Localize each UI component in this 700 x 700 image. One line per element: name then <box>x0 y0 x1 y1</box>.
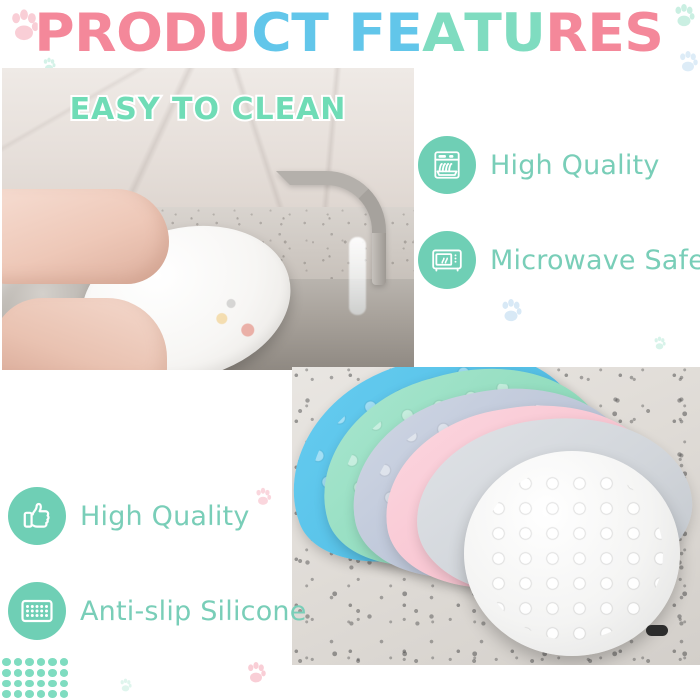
hand-upper <box>2 189 169 284</box>
feature-row-high-quality-thumbs[interactable]: High Quality <box>8 487 250 545</box>
title-letter: P <box>35 7 76 60</box>
title-letter: S <box>625 7 666 60</box>
title-letter: U <box>207 7 253 60</box>
title-letter: T <box>464 7 503 60</box>
paw-print-icon <box>253 487 273 507</box>
title-letter: F <box>348 7 387 60</box>
title-letter <box>329 7 349 60</box>
page-title-text: PRODUCT FEATURES <box>35 7 664 60</box>
title-letter: U <box>501 7 547 60</box>
feature-label: Microwave Safe <box>490 245 700 276</box>
feature-label: High Quality <box>490 150 660 181</box>
title-letter: A <box>422 7 466 60</box>
dot-grid-decoration <box>2 658 68 698</box>
paw-print-icon <box>498 298 524 324</box>
title-letter: R <box>74 7 117 60</box>
mat-tag <box>646 625 668 636</box>
paw-print-icon <box>244 661 268 685</box>
thumbs-up-icon <box>8 487 66 545</box>
photo-easy-to-clean: EASY TO CLEAN <box>2 68 414 370</box>
microwave-icon <box>418 231 476 289</box>
title-letter: D <box>162 7 209 60</box>
feature-label: High Quality <box>80 501 250 532</box>
paw-print-icon <box>652 336 667 351</box>
feature-row-high-quality-dishwasher[interactable]: High Quality <box>418 136 660 194</box>
title-letter: C <box>251 7 293 60</box>
dot-grid-icon <box>8 582 66 640</box>
title-letter: E <box>385 7 424 60</box>
easy-to-clean-overlay-text: EASY TO CLEAN <box>2 92 414 127</box>
water-stream <box>349 237 366 315</box>
feature-row-microwave-safe[interactable]: Microwave Safe <box>418 231 700 289</box>
paw-print-icon <box>118 678 133 693</box>
title-letter: E <box>587 7 626 60</box>
title-letter: R <box>546 7 589 60</box>
infographic-page: PRODUCT FEATURES EASY TO CLEAN <box>0 0 700 700</box>
title-letter: T <box>291 7 330 60</box>
title-letter: O <box>116 7 164 60</box>
feature-label: Anti-slip Silicone <box>80 596 307 627</box>
photo-stacked-mats <box>292 367 700 665</box>
mat-white <box>464 451 680 656</box>
feature-row-anti-slip[interactable]: Anti-slip Silicone <box>8 582 307 640</box>
dishwasher-icon <box>418 136 476 194</box>
page-title: PRODUCT FEATURES <box>0 4 700 62</box>
